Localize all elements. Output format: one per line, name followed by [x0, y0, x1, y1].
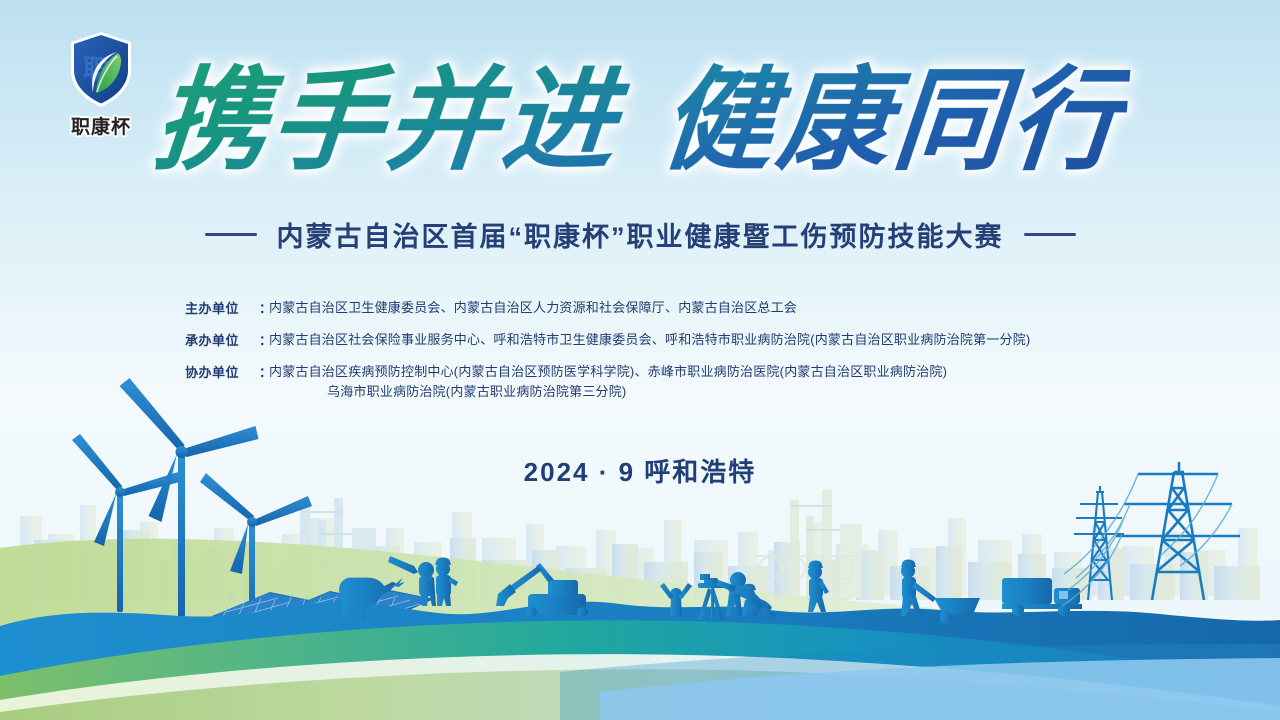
- organizer-value: 内蒙古自治区疾病预防控制中心(内蒙古自治区预防医学科学院)、赤峰市职业病防治医院…: [269, 362, 1185, 382]
- logo-wordmark: 职康杯: [42, 112, 160, 139]
- subtitle-dash-right: [1024, 233, 1076, 236]
- organizer-value: 内蒙古自治区社会保险事业服务中心、呼和浩特市卫生健康委员会、呼和浩特市职业病防治…: [269, 330, 1185, 350]
- subtitle-row: 内蒙古自治区首届“职康杯”职业健康暨工伤预防技能大赛: [0, 215, 1280, 254]
- organizer-value-continued: 乌海市职业病防治院(内蒙古职业病防治院第三分院): [269, 382, 1185, 402]
- event-logo: 职 职康杯: [42, 30, 160, 140]
- subtitle-dash-left: [205, 233, 257, 236]
- organizer-row-undertaker: 承办单位 ： 内蒙古自治区社会保险事业服务中心、呼和浩特市卫生健康委员会、呼和浩…: [185, 330, 1185, 350]
- organizer-label: 承办单位: [185, 330, 259, 349]
- event-date-place: 2024 · 9 呼和浩特: [0, 452, 1280, 489]
- shield-leaf-icon: 职: [65, 30, 137, 110]
- organizer-colon: ：: [259, 330, 269, 349]
- organizer-row-coorganizer: 协办单位 ： 内蒙古自治区疾病预防控制中心(内蒙古自治区预防医学科学院)、赤峰市…: [185, 362, 1185, 402]
- subtitle-text: 内蒙古自治区首届“职康杯”职业健康暨工伤预防技能大赛: [277, 215, 1004, 254]
- poster-canvas: 职 职康杯 携手并进 健康同行 内蒙古自治区首届“职康杯”职业健康暨工伤预防技能…: [0, 0, 1280, 720]
- organizer-label: 主办单位: [185, 298, 259, 317]
- organizer-colon: ：: [259, 362, 269, 381]
- organizer-label: 协办单位: [185, 362, 259, 381]
- organizers-block: 主办单位 ： 内蒙古自治区卫生健康委员会、内蒙古自治区人力资源和社会保障厅、内蒙…: [185, 298, 1185, 415]
- organizer-value: 内蒙古自治区卫生健康委员会、内蒙古自治区人力资源和社会保障厅、内蒙古自治区总工会: [269, 298, 1185, 318]
- organizer-row-host: 主办单位 ： 内蒙古自治区卫生健康委员会、内蒙古自治区人力资源和社会保障厅、内蒙…: [185, 298, 1185, 318]
- organizer-colon: ：: [259, 298, 269, 317]
